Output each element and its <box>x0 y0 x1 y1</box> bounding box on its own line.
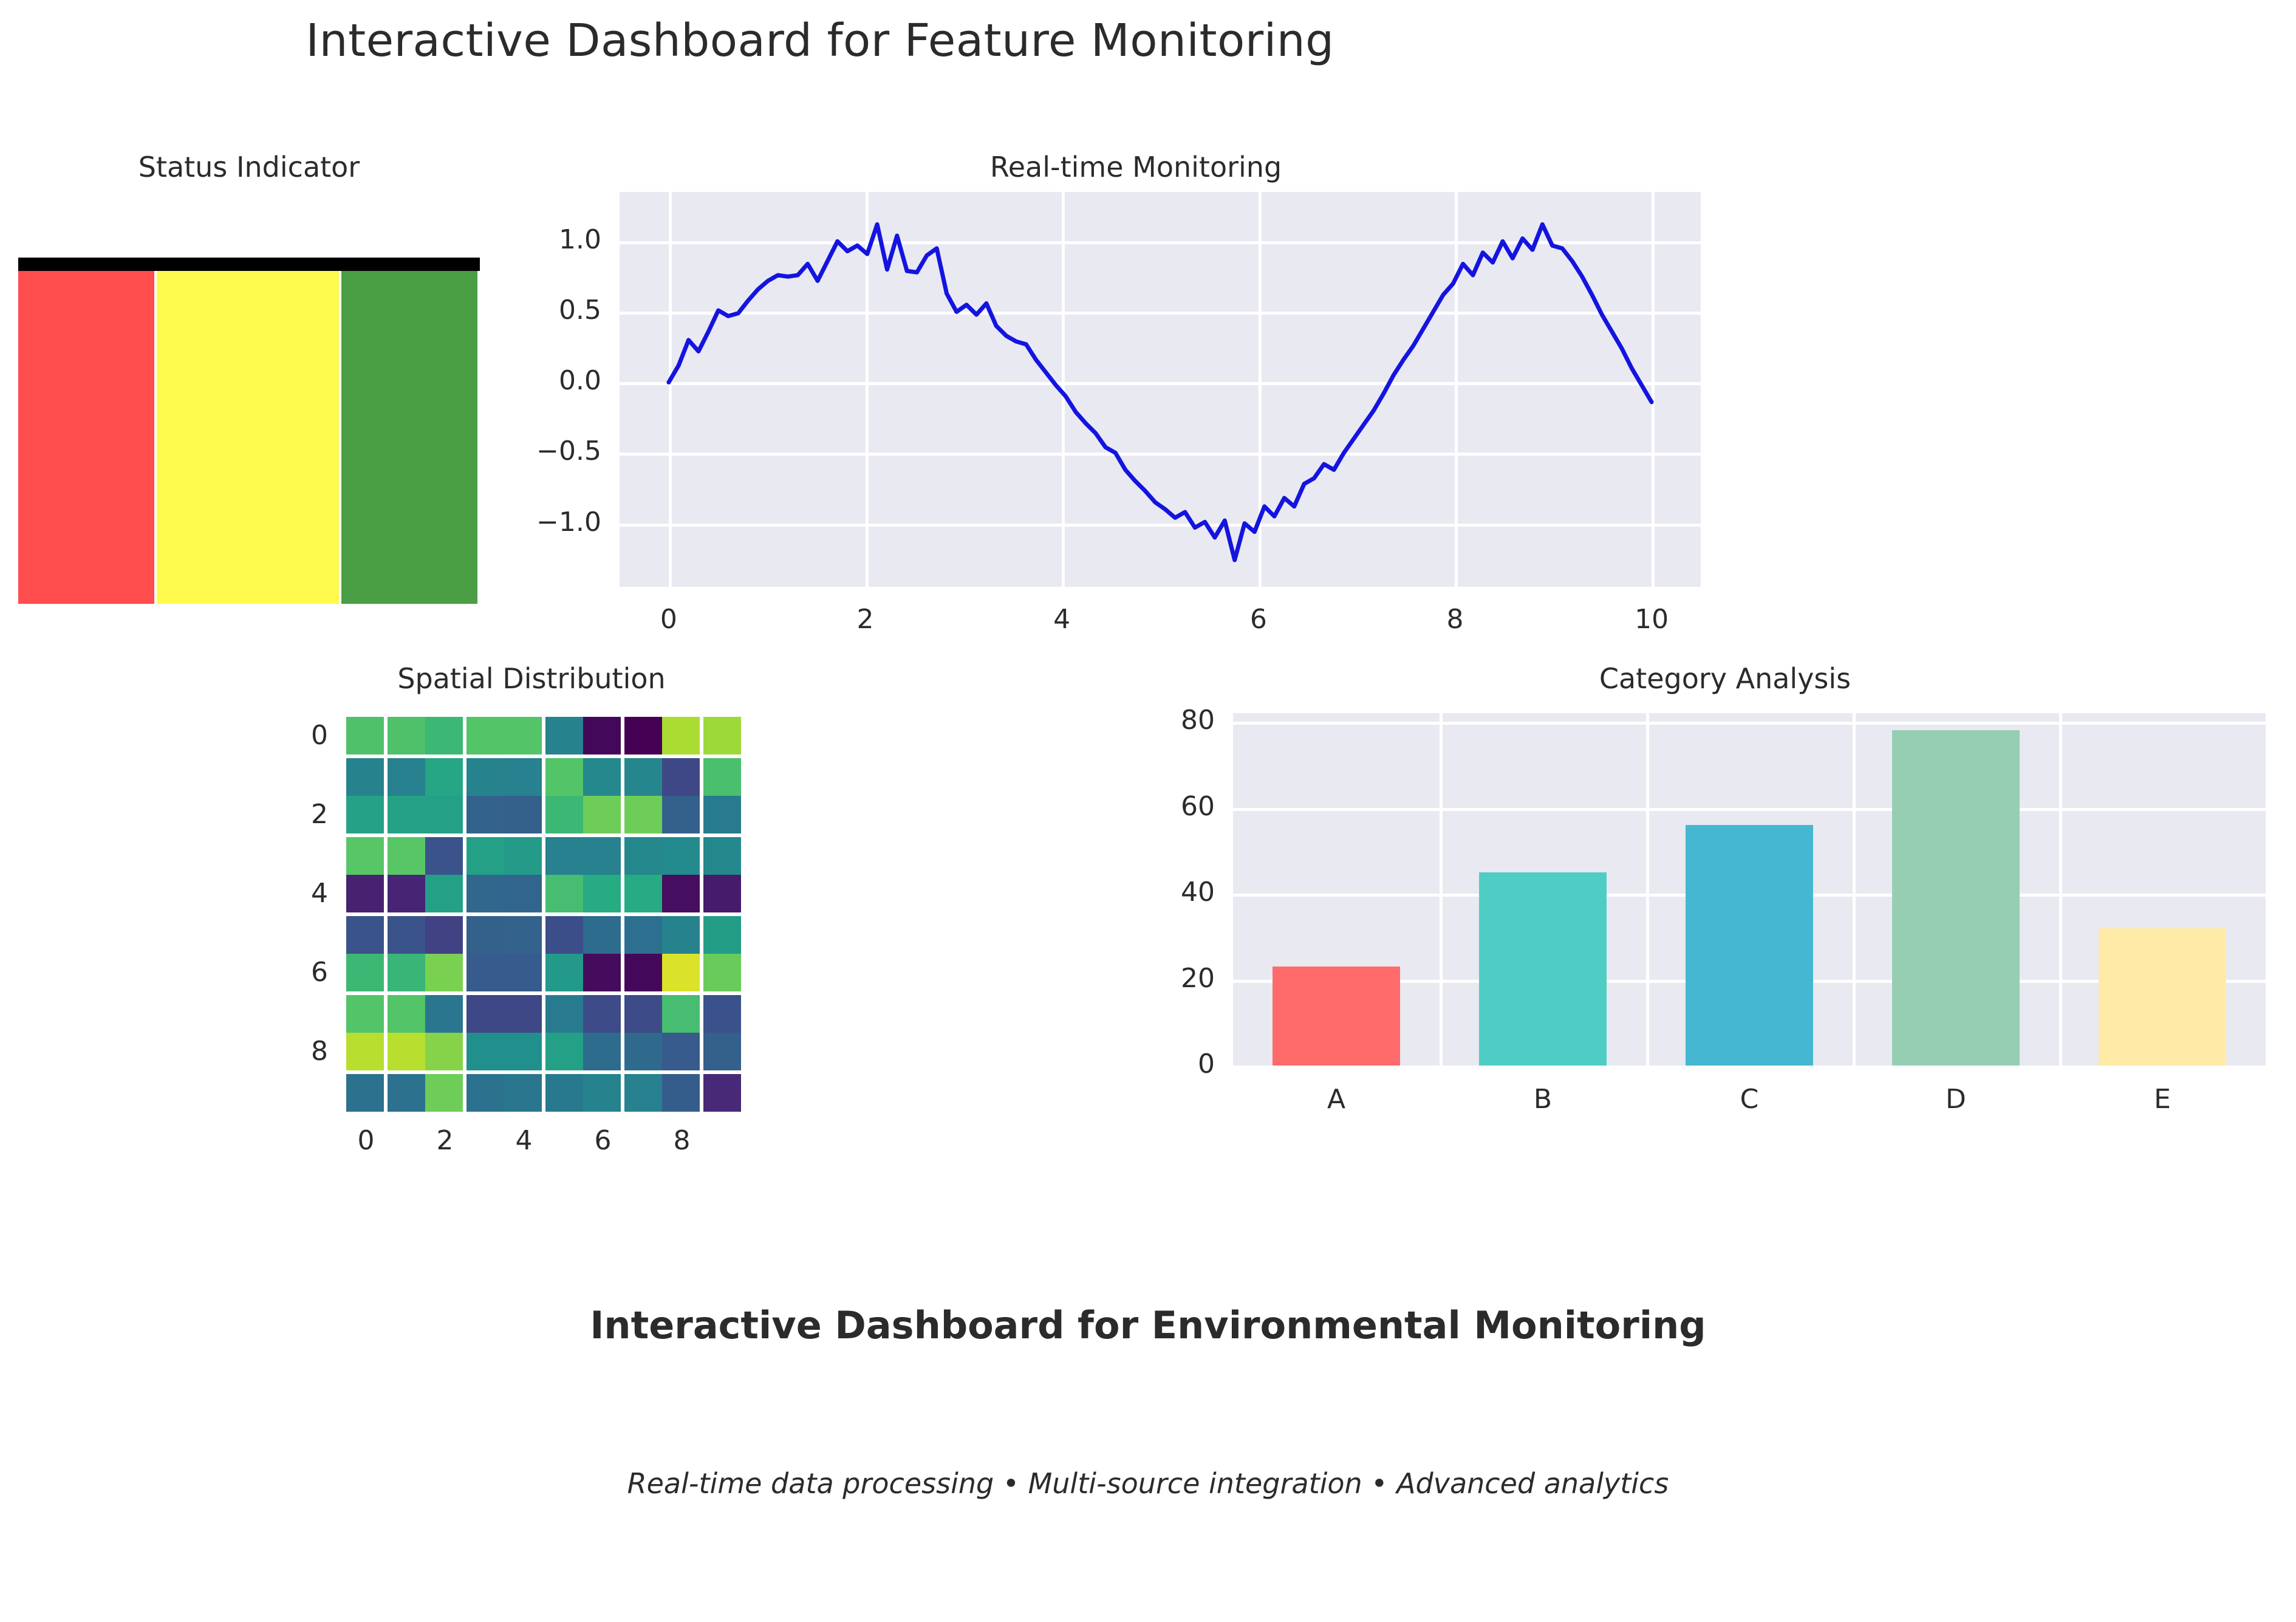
heatmap-cell[interactable] <box>386 1033 425 1072</box>
line-xtick-label: 2 <box>805 604 926 635</box>
heatmap-cell[interactable] <box>386 756 425 796</box>
heatmap-gridline-h <box>346 1070 741 1074</box>
heatmap-cell[interactable] <box>346 914 386 954</box>
heatmap-xtick-label: 8 <box>634 1125 731 1156</box>
heatmap-cell[interactable] <box>425 875 465 914</box>
heatmap-cell[interactable] <box>702 756 741 796</box>
heatmap-cell[interactable] <box>465 954 504 993</box>
heatmap-cell[interactable] <box>465 717 504 756</box>
heatmap-cell[interactable] <box>583 875 623 914</box>
line-xtick-label: 6 <box>1198 604 1319 635</box>
heatmap-cell[interactable] <box>465 1072 504 1112</box>
heatmap-cell[interactable] <box>346 835 386 875</box>
heatmap-cell[interactable] <box>346 875 386 914</box>
heatmap-ytick-label: 0 <box>231 720 328 751</box>
heatmap-cell[interactable] <box>346 954 386 993</box>
heatmap-ytick-label: 6 <box>231 957 328 988</box>
heatmap-cell[interactable] <box>386 1072 425 1112</box>
heatmap-cell[interactable] <box>702 717 741 756</box>
bar-ytick-label: 60 <box>1118 791 1215 822</box>
bar-xtick-label-B: B <box>1482 1084 1604 1115</box>
heatmap-cell[interactable] <box>583 756 623 796</box>
bar-xtick-label-C: C <box>1689 1084 1810 1115</box>
status-segment-red[interactable] <box>18 271 154 604</box>
line-chart-series <box>620 192 1701 587</box>
heatmap-cell[interactable] <box>702 875 741 914</box>
heatmap-cell[interactable] <box>583 796 623 835</box>
footer-subtitle: Real-time data processing • Multi-source… <box>0 1467 2296 1500</box>
bar-B[interactable] <box>1479 872 1607 1066</box>
heatmap-cell[interactable] <box>504 875 544 914</box>
heatmap-gridline-h <box>346 755 741 758</box>
heatmap-cell[interactable] <box>702 914 741 954</box>
heatmap-cell[interactable] <box>425 1072 465 1112</box>
bar-ytick-label: 40 <box>1118 877 1215 908</box>
heatmap-cell[interactable] <box>623 756 662 796</box>
bar-chart-bars <box>1233 713 2266 1066</box>
heatmap-cell[interactable] <box>346 993 386 1033</box>
heatmap-cell[interactable] <box>425 835 465 875</box>
heatmap-cell[interactable] <box>465 1033 504 1072</box>
heatmap-cell[interactable] <box>623 954 662 993</box>
heatmap-cell[interactable] <box>504 993 544 1033</box>
heatmap-cell[interactable] <box>702 1033 741 1072</box>
heatmap-cell[interactable] <box>425 914 465 954</box>
heatmap-cell[interactable] <box>425 993 465 1033</box>
status-segment-green[interactable] <box>341 271 477 604</box>
heatmap-cell[interactable] <box>544 717 583 756</box>
heatmap-ytick-label: 4 <box>231 878 328 909</box>
heatmap-cell[interactable] <box>702 954 741 993</box>
heatmap-cell[interactable] <box>386 914 425 954</box>
heatmap-cell[interactable] <box>583 914 623 954</box>
bar-E[interactable] <box>2099 928 2227 1066</box>
heatmap-cell[interactable] <box>544 954 583 993</box>
heatmap-cell[interactable] <box>662 835 702 875</box>
status-indicator-panel: Status Indicator <box>18 151 480 612</box>
line-chart-title: Real-time Monitoring <box>535 151 1737 183</box>
heatmap-cell[interactable] <box>623 914 662 954</box>
heatmap-cell[interactable] <box>504 954 544 993</box>
heatmap-cell[interactable] <box>544 914 583 954</box>
heatmap-cell[interactable] <box>623 875 662 914</box>
status-indicator-bars[interactable] <box>18 258 480 604</box>
page-title: Interactive Dashboard for Feature Monito… <box>0 15 1640 67</box>
heatmap-cell[interactable] <box>623 835 662 875</box>
heatmap-cell[interactable] <box>544 796 583 835</box>
heatmap-cell[interactable] <box>662 914 702 954</box>
heatmap-cell[interactable] <box>544 1072 583 1112</box>
heatmap-cell[interactable] <box>702 796 741 835</box>
bar-xtick-label-D: D <box>1895 1084 2017 1115</box>
heatmap-cell[interactable] <box>465 993 504 1033</box>
heatmap-cell[interactable] <box>386 875 425 914</box>
heatmap-cell[interactable] <box>465 835 504 875</box>
heatmap-cell[interactable] <box>386 835 425 875</box>
line-ytick-label: 1.0 <box>480 224 601 255</box>
heatmap-cell[interactable] <box>544 1033 583 1072</box>
category-analysis-chart: Category Analysis 020406080ABCDE <box>1154 662 2296 1154</box>
heatmap-gridline-h <box>346 833 741 837</box>
heatmap-cell[interactable] <box>544 875 583 914</box>
heatmap-cell[interactable] <box>623 1072 662 1112</box>
heatmap-cell[interactable] <box>425 1033 465 1072</box>
heatmap-cell[interactable] <box>425 717 465 756</box>
status-indicator-title: Status Indicator <box>18 151 480 183</box>
footer-heading: Interactive Dashboard for Environmental … <box>0 1303 2296 1347</box>
heatmap-cell[interactable] <box>504 1033 544 1072</box>
line-xtick-label: 0 <box>608 604 729 635</box>
bar-C[interactable] <box>1686 825 1814 1066</box>
heatmap-cell[interactable] <box>623 993 662 1033</box>
heatmap-cell[interactable] <box>504 756 544 796</box>
heatmap-cell[interactable] <box>346 756 386 796</box>
heatmap-cell[interactable] <box>702 1072 741 1112</box>
heatmap-cell[interactable] <box>504 796 544 835</box>
heatmap-cell[interactable] <box>623 796 662 835</box>
bar-ytick-label: 80 <box>1118 705 1215 736</box>
heatmap-cell[interactable] <box>346 796 386 835</box>
line-series-path <box>669 224 1652 560</box>
heatmap-cell[interactable] <box>583 717 623 756</box>
heatmap-cell[interactable] <box>662 993 702 1033</box>
heatmap-ytick-label: 8 <box>231 1036 328 1067</box>
heatmap-cell[interactable] <box>583 993 623 1033</box>
heatmap-cell[interactable] <box>544 835 583 875</box>
heatmap-cell[interactable] <box>623 1033 662 1072</box>
heatmap-ytick-label: 2 <box>231 799 328 830</box>
heatmap-cell[interactable] <box>583 835 623 875</box>
heatmap-cell[interactable] <box>504 914 544 954</box>
heatmap-cell[interactable] <box>346 717 386 756</box>
heatmap-cell[interactable] <box>465 914 504 954</box>
heatmap-cell[interactable] <box>465 756 504 796</box>
heatmap-gridline-h <box>346 991 741 995</box>
heatmap-cell[interactable] <box>504 835 544 875</box>
heatmap-cell[interactable] <box>465 875 504 914</box>
line-ytick-label: 0.5 <box>480 295 601 326</box>
heatmap-cell[interactable] <box>623 717 662 756</box>
heatmap-cell[interactable] <box>386 954 425 993</box>
heatmap-cell[interactable] <box>583 1033 623 1072</box>
bar-ytick-label: 0 <box>1118 1049 1215 1080</box>
bar-gridline-h <box>1233 1066 2266 1069</box>
heatmap-cell[interactable] <box>386 796 425 835</box>
line-xtick-label: 4 <box>1001 604 1122 635</box>
heatmap-cell[interactable] <box>346 1072 386 1112</box>
heatmap-cell[interactable] <box>662 1033 702 1072</box>
line-ytick-label: −1.0 <box>480 507 601 538</box>
heatmap-cell[interactable] <box>504 717 544 756</box>
bar-ytick-label: 20 <box>1118 963 1215 994</box>
heatmap-gridline-h <box>346 912 741 916</box>
heatmap-cell[interactable] <box>425 756 465 796</box>
heatmap-cell[interactable] <box>702 993 741 1033</box>
heatmap-cell[interactable] <box>662 796 702 835</box>
heatmap-cell[interactable] <box>346 1033 386 1072</box>
heatmap-cell[interactable] <box>504 1072 544 1112</box>
realtime-monitoring-chart: Real-time Monitoring −1.0−0.50.00.51.002… <box>535 151 1737 631</box>
bar-xtick-label-A: A <box>1276 1084 1397 1115</box>
heatmap-cell[interactable] <box>386 717 425 756</box>
heatmap-cell[interactable] <box>583 1072 623 1112</box>
heatmap-cell[interactable] <box>702 835 741 875</box>
heatmap-cell[interactable] <box>583 954 623 993</box>
heatmap-cell[interactable] <box>544 756 583 796</box>
bar-A[interactable] <box>1273 967 1401 1066</box>
bar-chart-title: Category Analysis <box>1154 662 2296 695</box>
heatmap-cell[interactable] <box>662 875 702 914</box>
line-ytick-label: −0.5 <box>480 436 601 467</box>
heatmap-cell[interactable] <box>662 717 702 756</box>
spatial-distribution-chart: Spatial Distribution 0246802468 <box>273 662 790 1154</box>
heatmap-cell[interactable] <box>425 796 465 835</box>
heatmap-cell[interactable] <box>544 993 583 1033</box>
heatmap-cell[interactable] <box>425 954 465 993</box>
heatmap-cell[interactable] <box>662 756 702 796</box>
status-top-black-bar <box>18 258 480 271</box>
bar-xtick-label-E: E <box>2102 1084 2223 1115</box>
line-xtick-label: 10 <box>1591 604 1712 635</box>
heatmap-cell[interactable] <box>465 796 504 835</box>
heatmap-title: Spatial Distribution <box>273 662 790 695</box>
heatmap-cell[interactable] <box>662 954 702 993</box>
heatmap-cell[interactable] <box>386 993 425 1033</box>
heatmap-cell[interactable] <box>662 1072 702 1112</box>
status-segment-yellow[interactable] <box>157 271 339 604</box>
bar-D[interactable] <box>1892 730 2020 1066</box>
line-ytick-label: 0.0 <box>480 365 601 396</box>
line-xtick-label: 8 <box>1394 604 1515 635</box>
